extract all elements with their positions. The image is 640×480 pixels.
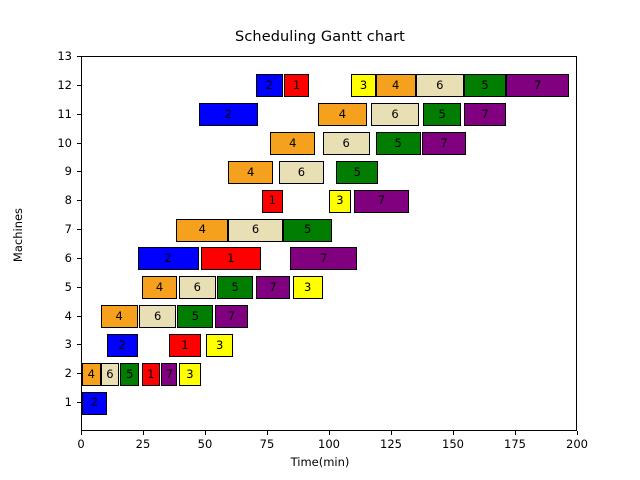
gantt-bar-label: 2 xyxy=(119,340,126,352)
y-tick-label: 4 xyxy=(42,309,72,323)
y-tick xyxy=(77,316,81,317)
y-tick-label: 7 xyxy=(42,222,72,236)
gantt-bar-label: 5 xyxy=(439,109,446,121)
gantt-bar: 5 xyxy=(464,74,506,97)
gantt-bar-label: 2 xyxy=(91,397,98,409)
gantt-bar: 1 xyxy=(262,190,283,213)
gantt-bars-layer: 2465173213465746573217465137465465724657… xyxy=(82,57,576,430)
gantt-bar: 5 xyxy=(376,132,421,155)
gantt-bar-label: 6 xyxy=(252,224,259,236)
gantt-bar: 7 xyxy=(290,247,357,270)
gantt-bar: 1 xyxy=(169,334,201,357)
gantt-bar: 4 xyxy=(376,74,416,97)
y-tick-label: 3 xyxy=(42,337,72,351)
gantt-bar: 2 xyxy=(199,103,259,126)
gantt-bar-label: 3 xyxy=(304,282,311,294)
gantt-bar: 3 xyxy=(293,276,323,299)
gantt-bar-label: 7 xyxy=(534,80,541,92)
gantt-bar-label: 2 xyxy=(225,109,232,121)
gantt-bar-label: 4 xyxy=(88,369,95,381)
x-tick xyxy=(577,431,578,435)
y-tick-label: 13 xyxy=(42,49,72,63)
gantt-bar: 6 xyxy=(139,305,176,328)
gantt-bar: 5 xyxy=(283,219,333,242)
gantt-bar: 2 xyxy=(138,247,199,270)
y-tick xyxy=(77,402,81,403)
gantt-bar: 2 xyxy=(82,392,107,415)
gantt-bar: 7 xyxy=(215,305,248,328)
gantt-bar-label: 1 xyxy=(227,253,234,265)
gantt-bar-label: 4 xyxy=(247,167,254,179)
gantt-bar: 5 xyxy=(423,103,461,126)
gantt-bar-label: 1 xyxy=(147,369,154,381)
x-tick-label: 75 xyxy=(260,437,275,451)
x-tick-label: 50 xyxy=(198,437,213,451)
gantt-bar: 5 xyxy=(177,305,213,328)
gantt-bar: 4 xyxy=(318,103,368,126)
gantt-bar: 4 xyxy=(270,132,315,155)
gantt-bar: 7 xyxy=(256,276,291,299)
gantt-bar-label: 7 xyxy=(320,253,327,265)
gantt-bar-label: 5 xyxy=(481,80,488,92)
x-tick-label: 100 xyxy=(318,437,340,451)
y-tick-label: 10 xyxy=(42,136,72,150)
y-tick xyxy=(77,143,81,144)
gantt-bar: 7 xyxy=(506,74,569,97)
gantt-bar: 1 xyxy=(142,363,161,386)
gantt-bar-label: 5 xyxy=(126,369,133,381)
gantt-bar: 5 xyxy=(336,161,378,184)
gantt-bar-label: 4 xyxy=(199,224,206,236)
gantt-bar: 2 xyxy=(256,74,283,97)
x-tick-label: 175 xyxy=(504,437,526,451)
gantt-bar-label: 6 xyxy=(391,109,398,121)
y-tick-label: 11 xyxy=(42,107,72,121)
gantt-bar-label: 4 xyxy=(116,311,123,323)
gantt-bar-label: 4 xyxy=(289,138,296,150)
gantt-bar-label: 1 xyxy=(269,195,276,207)
gantt-bar-label: 7 xyxy=(378,195,385,207)
gantt-bar-label: 7 xyxy=(228,311,235,323)
x-tick xyxy=(515,431,516,435)
x-axis-label: Time(min) xyxy=(0,455,640,469)
gantt-bar: 7 xyxy=(422,132,467,155)
x-tick xyxy=(391,431,392,435)
gantt-bar-label: 6 xyxy=(298,167,305,179)
x-tick xyxy=(267,431,268,435)
y-tick-label: 8 xyxy=(42,193,72,207)
y-tick-label: 6 xyxy=(42,251,72,265)
y-tick-label: 5 xyxy=(42,280,72,294)
gantt-bar: 5 xyxy=(120,363,139,386)
gantt-bar: 4 xyxy=(228,161,273,184)
x-tick-label: 25 xyxy=(136,437,151,451)
y-tick xyxy=(77,287,81,288)
gantt-bar-label: 5 xyxy=(354,167,361,179)
y-tick xyxy=(77,171,81,172)
gantt-bar-label: 3 xyxy=(336,195,343,207)
gantt-bar: 3 xyxy=(206,334,233,357)
y-tick xyxy=(77,200,81,201)
plot-area: 2465173213465746573217465137465465724657… xyxy=(81,56,577,431)
gantt-bar: 4 xyxy=(176,219,228,242)
gantt-bar-label: 7 xyxy=(166,369,173,381)
gantt-bar: 5 xyxy=(217,276,253,299)
gantt-bar-label: 3 xyxy=(186,369,193,381)
gantt-bar: 2 xyxy=(107,334,138,357)
gantt-bar: 6 xyxy=(228,219,283,242)
gantt-bar-label: 7 xyxy=(269,282,276,294)
gantt-bar-label: 6 xyxy=(154,311,161,323)
x-tick xyxy=(205,431,206,435)
gantt-bar-label: 2 xyxy=(165,253,172,265)
x-tick xyxy=(143,431,144,435)
y-tick-label: 2 xyxy=(42,366,72,380)
y-tick-label: 9 xyxy=(42,164,72,178)
chart-title: Scheduling Gantt chart xyxy=(0,29,640,45)
gantt-bar-label: 4 xyxy=(156,282,163,294)
gantt-bar: 1 xyxy=(201,247,261,270)
gantt-bar: 6 xyxy=(279,161,324,184)
x-tick-label: 150 xyxy=(442,437,464,451)
gantt-bar-label: 1 xyxy=(181,340,188,352)
y-tick-label: 12 xyxy=(42,78,72,92)
y-tick xyxy=(77,85,81,86)
gantt-bar-label: 7 xyxy=(481,109,488,121)
gantt-bar-label: 6 xyxy=(436,80,443,92)
gantt-bar-label: 7 xyxy=(440,138,447,150)
y-tick xyxy=(77,258,81,259)
gantt-bar-label: 6 xyxy=(342,138,349,150)
gantt-bar: 7 xyxy=(354,190,410,213)
gantt-bar-label: 3 xyxy=(216,340,223,352)
x-tick-label: 125 xyxy=(380,437,402,451)
x-tick-label: 0 xyxy=(77,437,84,451)
gantt-bar: 4 xyxy=(142,276,178,299)
gantt-bar-label: 4 xyxy=(392,80,399,92)
x-tick xyxy=(329,431,330,435)
gantt-bar: 6 xyxy=(416,74,464,97)
x-tick-label: 200 xyxy=(566,437,588,451)
x-tick xyxy=(81,431,82,435)
gantt-bar-label: 4 xyxy=(339,109,346,121)
gantt-bar-label: 1 xyxy=(293,80,300,92)
gantt-bar-label: 2 xyxy=(266,80,273,92)
gantt-bar: 4 xyxy=(101,305,138,328)
gantt-bar: 3 xyxy=(351,74,376,97)
gantt-bar-label: 5 xyxy=(395,138,402,150)
gantt-bar-label: 5 xyxy=(304,224,311,236)
gantt-bar: 7 xyxy=(464,103,506,126)
gantt-bar: 1 xyxy=(284,74,309,97)
gantt-bar: 6 xyxy=(323,132,370,155)
y-tick xyxy=(77,344,81,345)
gantt-bar: 7 xyxy=(161,363,177,386)
gantt-bar-label: 6 xyxy=(194,282,201,294)
gantt-bar: 6 xyxy=(371,103,419,126)
gantt-bar-label: 5 xyxy=(231,282,238,294)
gantt-bar: 6 xyxy=(179,276,216,299)
gantt-chart-figure: Scheduling Gantt chart 24651732134657465… xyxy=(0,0,640,480)
y-tick-label: 1 xyxy=(42,395,72,409)
gantt-bar: 3 xyxy=(179,363,201,386)
y-tick xyxy=(77,114,81,115)
y-tick xyxy=(77,229,81,230)
y-tick xyxy=(77,56,81,57)
x-tick xyxy=(453,431,454,435)
gantt-bar: 4 xyxy=(82,363,101,386)
y-axis-label: Machines xyxy=(11,145,25,325)
gantt-bar-label: 5 xyxy=(192,311,199,323)
gantt-bar: 3 xyxy=(329,190,351,213)
y-tick xyxy=(77,373,81,374)
gantt-bar-label: 6 xyxy=(106,369,113,381)
gantt-bar-label: 3 xyxy=(360,80,367,92)
gantt-bar: 6 xyxy=(101,363,120,386)
